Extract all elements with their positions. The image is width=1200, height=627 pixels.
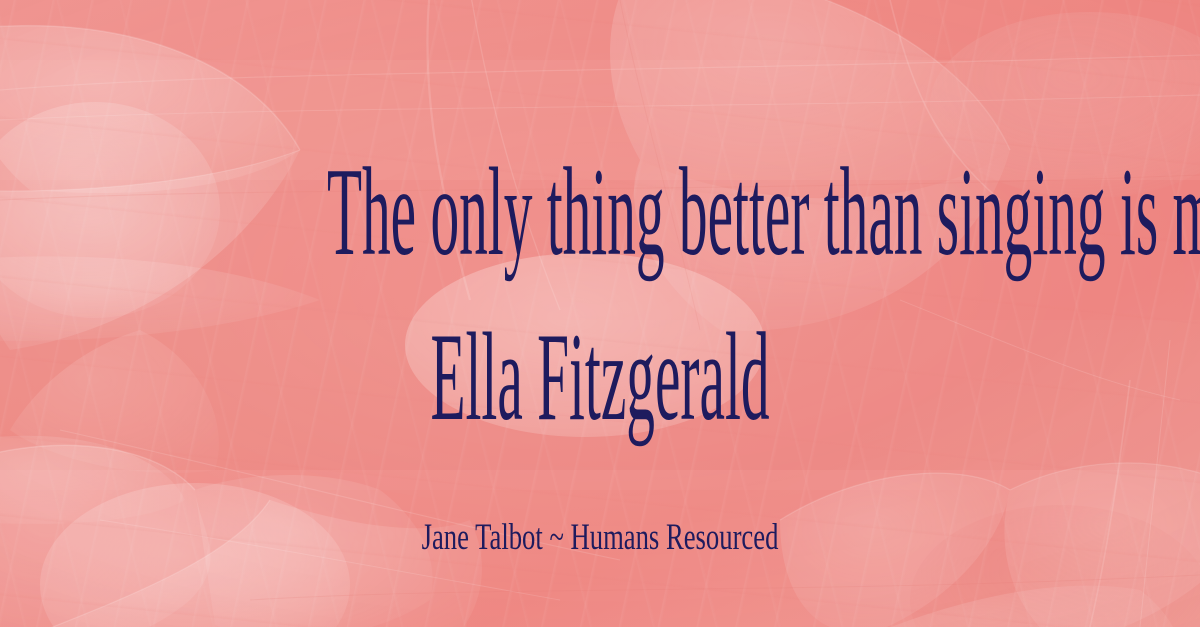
quote-card: The only thing better than singing is mo…: [0, 0, 1200, 627]
quote-line-1: The only thing better than singing is mo…: [327, 150, 873, 276]
quote-text-block: The only thing better than singing is mo…: [0, 0, 1200, 627]
attribution-text: Jane Talbot ~ Humans Resourced: [168, 519, 1032, 556]
quote-line-2-author: Ella Fitzgerald: [327, 315, 873, 441]
